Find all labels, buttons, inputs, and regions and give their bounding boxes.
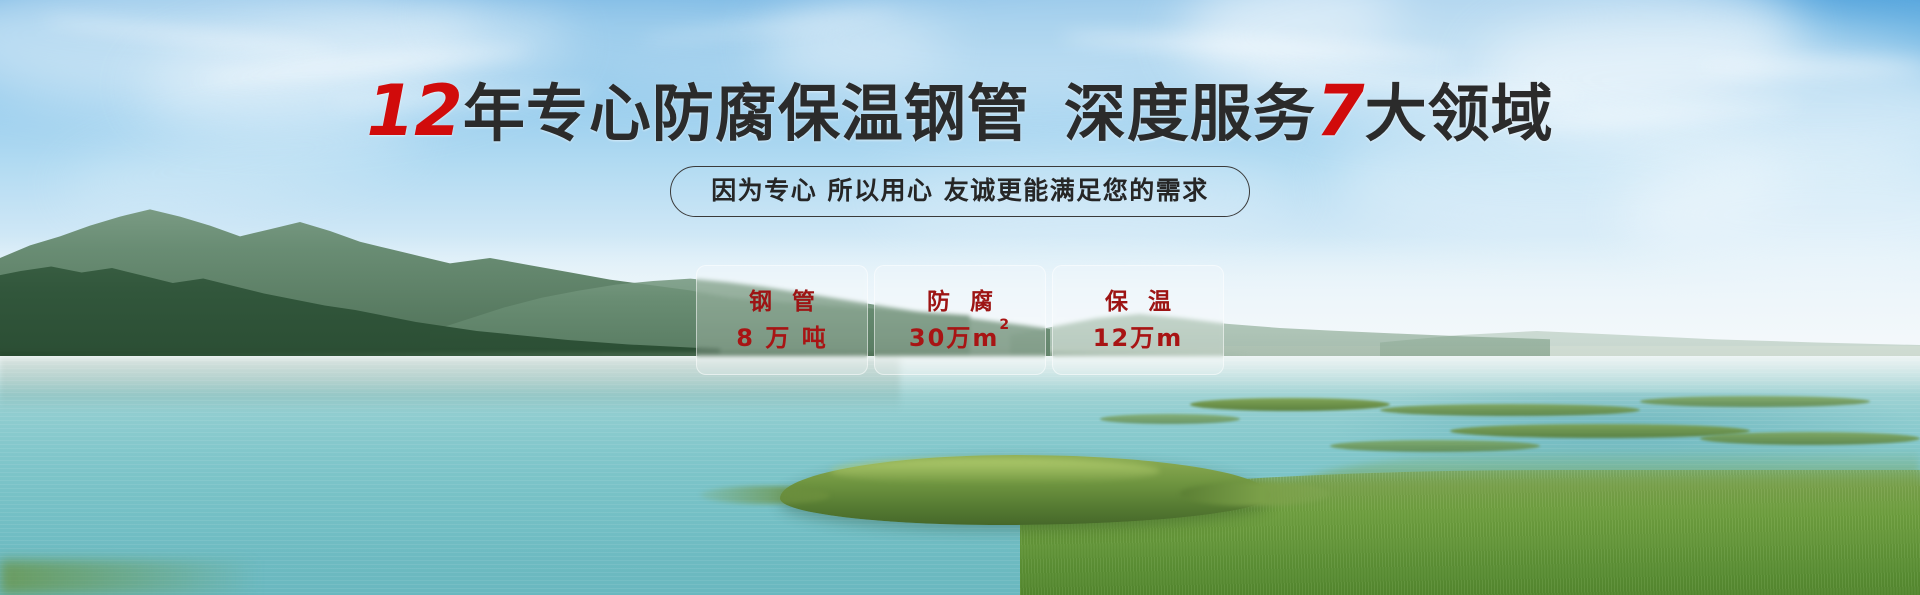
stat-card-value-text: 12万m — [1093, 324, 1183, 352]
marsh-reed-strip — [1700, 432, 1920, 445]
stat-card-value-superscript: 2 — [999, 317, 1011, 333]
grass-island-highlight — [830, 458, 1160, 484]
banner-headline: 12年专心防腐保温钢管深度服务7大领域 — [0, 76, 1920, 146]
stat-card-label: 防 腐 — [921, 291, 999, 314]
headline-text-secondary-lead: 深度服务 — [1064, 77, 1316, 150]
marsh-reed-strip — [1380, 404, 1640, 416]
banner-subtitle-container: 因为专心 所以用心 友诚更能满足您的需求 — [0, 166, 1920, 217]
headline-text-secondary-tail: 大领域 — [1365, 77, 1554, 150]
stat-card-label: 钢 管 — [743, 291, 821, 314]
stat-card-value-text: 8 万 吨 — [736, 324, 827, 352]
stat-card-value: 8 万 吨 — [736, 326, 827, 350]
stat-card-insulation[interactable]: 保 温 12万m — [1052, 265, 1224, 375]
hero-banner: 12年专心防腐保温钢管深度服务7大领域 因为专心 所以用心 友诚更能满足您的需求… — [0, 0, 1920, 595]
stat-card-label: 保 温 — [1099, 291, 1177, 314]
marsh-reed-strip — [1100, 414, 1240, 424]
banner-subtitle-pill: 因为专心 所以用心 友诚更能满足您的需求 — [670, 166, 1249, 217]
marsh-reed-strip — [1640, 396, 1870, 407]
headline-text-primary: 年专心防腐保温钢管 — [463, 77, 1030, 150]
grass-bank-left — [0, 560, 260, 595]
grass-island-tail — [1180, 482, 1330, 506]
stat-card-value: 30万m2 — [909, 326, 1011, 350]
grass-island-left-spit — [700, 486, 830, 504]
stat-card-group: 钢 管 8 万 吨 防 腐 30万m2 保 温 12万m — [0, 265, 1920, 375]
stat-card-steel-pipe[interactable]: 钢 管 8 万 吨 — [696, 265, 868, 375]
stat-card-value-text: 30万m — [909, 324, 999, 352]
marsh-reed-strip — [1190, 398, 1390, 411]
headline-fields-number: 7 — [1316, 70, 1364, 152]
stat-card-anticorrosion[interactable]: 防 腐 30万m2 — [874, 265, 1046, 375]
stat-card-value: 12万m — [1093, 326, 1183, 350]
headline-years-number: 12 — [366, 70, 461, 152]
